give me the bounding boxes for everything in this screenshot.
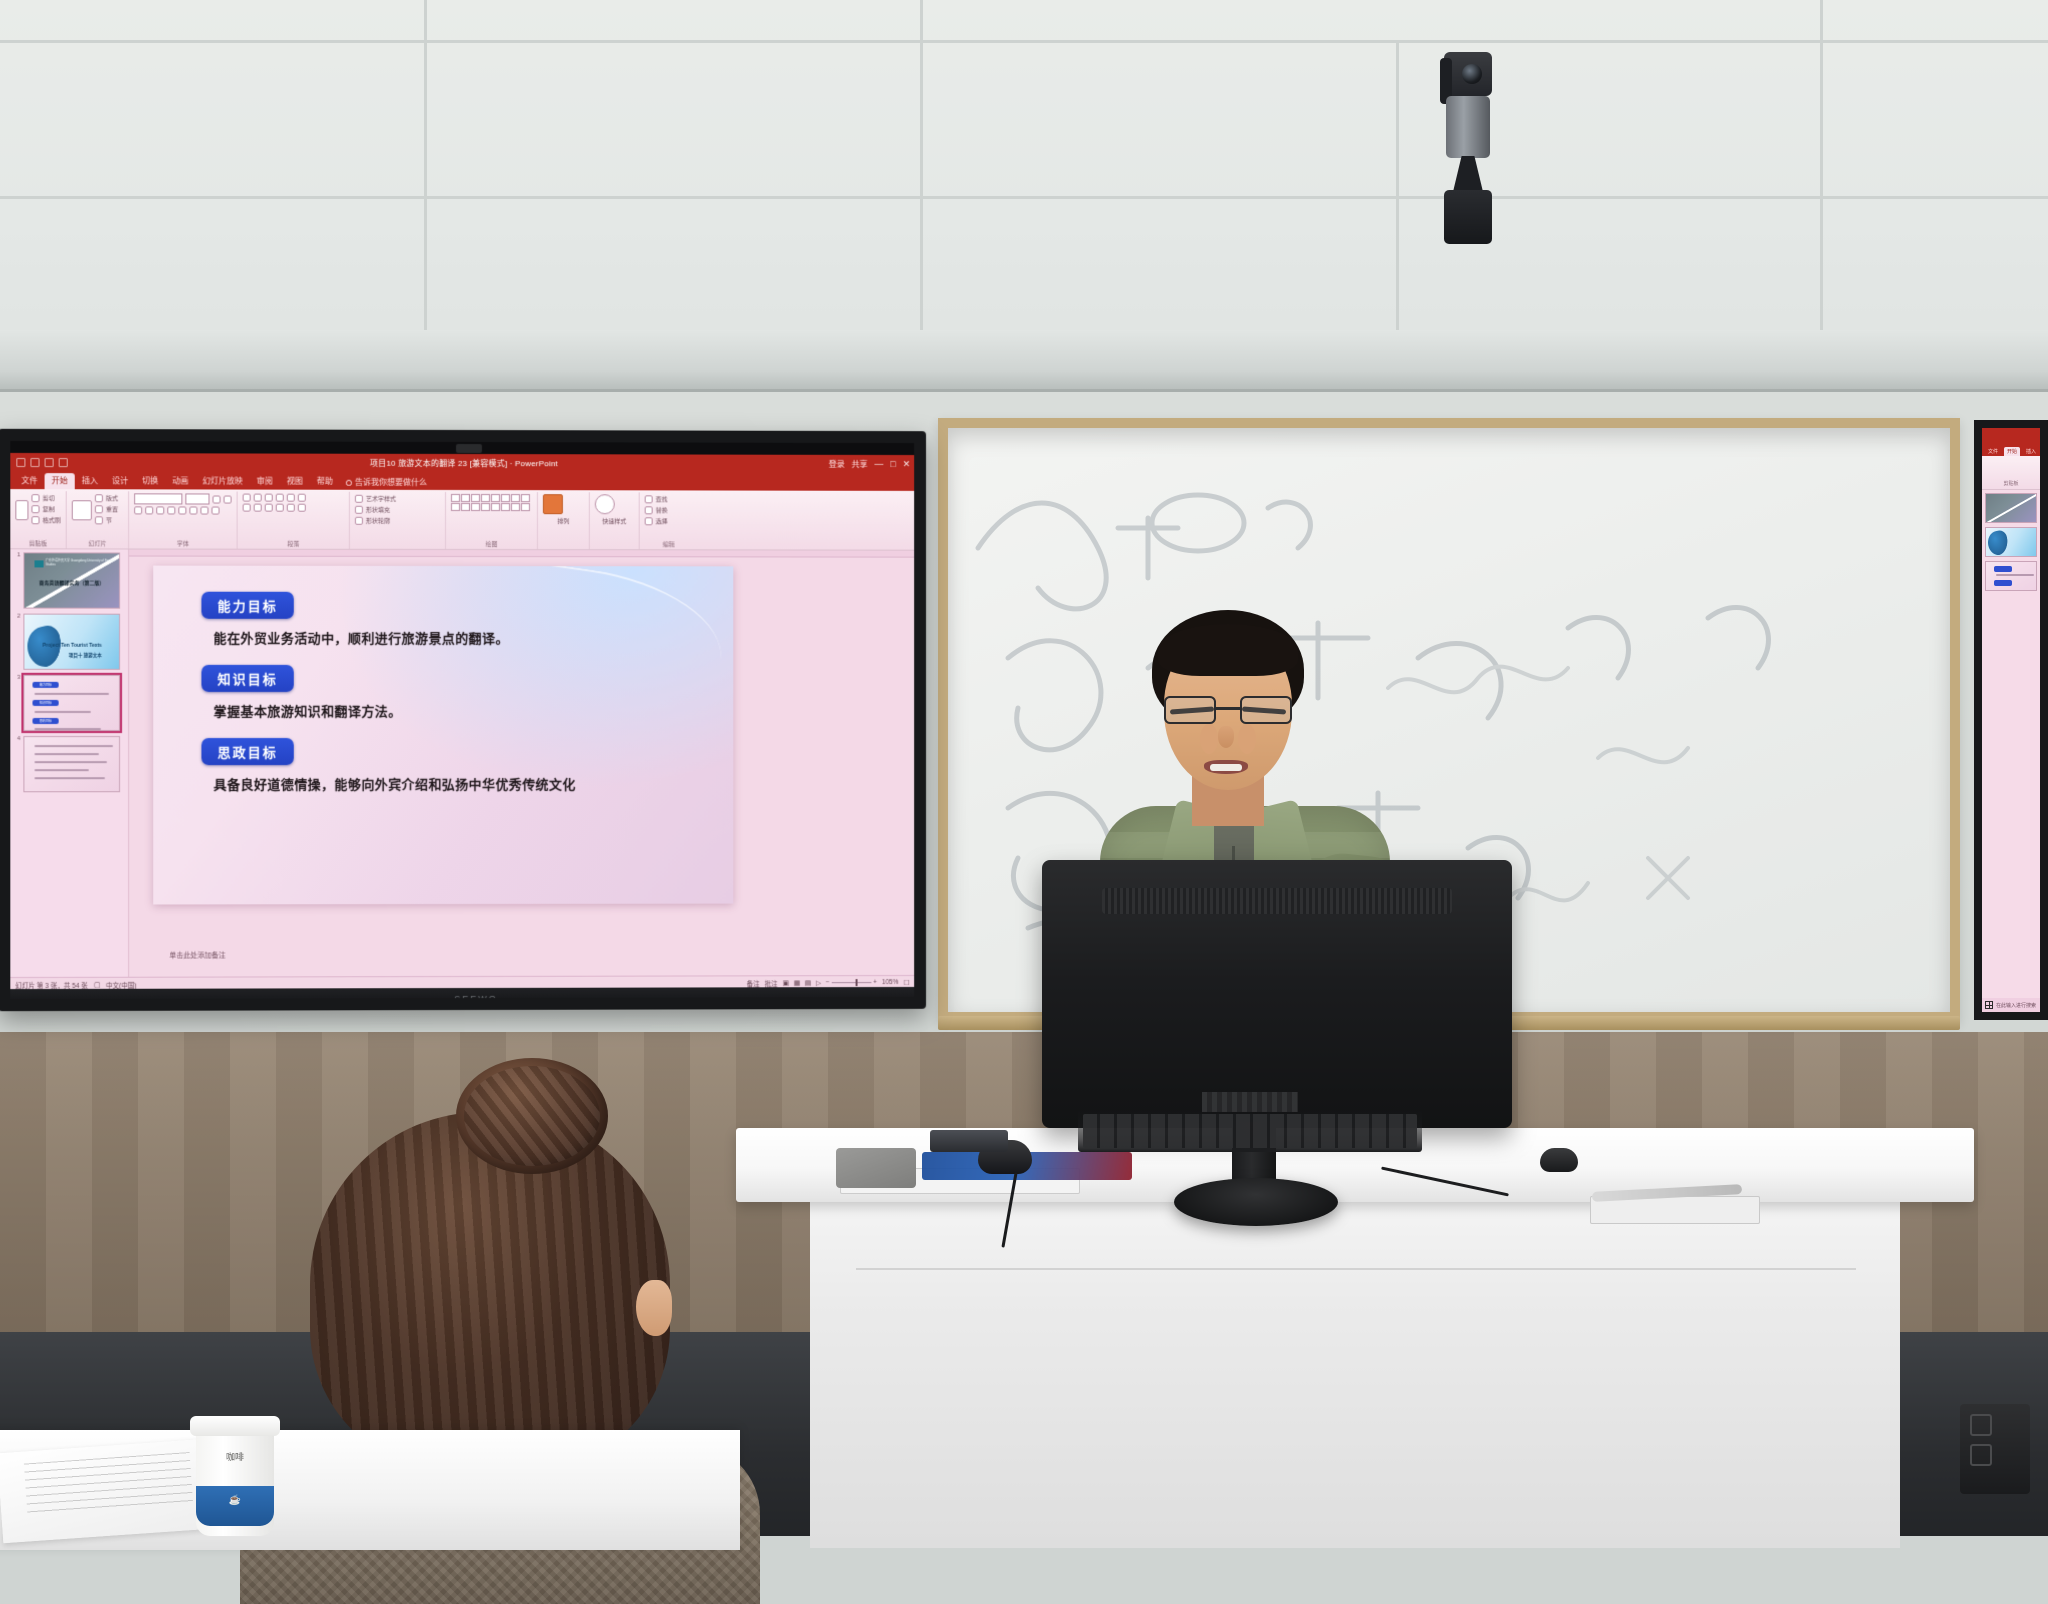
paper-text-lines bbox=[24, 1452, 193, 1515]
zoom-knob[interactable] bbox=[855, 979, 857, 986]
shape-outline-label: 形状轮廓 bbox=[366, 516, 390, 525]
shape-banner-icon[interactable] bbox=[521, 503, 530, 511]
monitor-vent bbox=[1102, 888, 1452, 914]
smartphone[interactable] bbox=[930, 1130, 1008, 1152]
window-title: 项目10 旅游文本的翻译 23 [兼容模式] · PowerPoint bbox=[10, 457, 914, 470]
shape-star-icon[interactable] bbox=[511, 503, 520, 511]
group-label-font: 字体 bbox=[129, 538, 237, 547]
ribbon-group-font[interactable]: 字体 bbox=[129, 491, 238, 548]
thumbnail-2-subtitle: 项目十 旅游文本 bbox=[69, 653, 102, 659]
secondary-taskbar[interactable]: 在此输入进行搜索 bbox=[1982, 998, 2040, 1012]
maximize-button[interactable]: □ bbox=[890, 460, 895, 469]
secondary-tab-home[interactable]: 开始 bbox=[2004, 447, 2020, 456]
display-brand-label: SEEWO bbox=[454, 994, 497, 1004]
interactive-flat-panel-display[interactable]: 项目10 旅游文本的翻译 23 [兼容模式] · PowerPoint 登录 共… bbox=[0, 429, 926, 1011]
shapes-gallery[interactable] bbox=[451, 494, 532, 511]
display-screen[interactable]: 项目10 旅游文本的翻译 23 [兼容模式] · PowerPoint 登录 共… bbox=[10, 453, 914, 1011]
shape-line-icon[interactable] bbox=[471, 494, 480, 502]
secondary-display[interactable]: 文件 开始 插入 剪贴板 bbox=[1974, 420, 2048, 1020]
wordart-styles-icon[interactable] bbox=[355, 494, 363, 502]
powerpoint-title-bar: 项目10 旅游文本的翻译 23 [兼容模式] · PowerPoint 登录 共… bbox=[10, 453, 914, 474]
tab-file[interactable]: 文件 bbox=[14, 473, 44, 489]
group-label-clipboard: 剪贴板 bbox=[10, 538, 65, 547]
thumbnail-item[interactable]: 2 Project Ten Tourist Texts 项目十 旅游文本 bbox=[13, 614, 126, 670]
share-button[interactable]: 共享 bbox=[852, 459, 868, 470]
student-hair-strands bbox=[310, 1112, 670, 1472]
thumbnail-number: 4 bbox=[13, 736, 20, 792]
teacher-hair-fringe bbox=[1158, 624, 1298, 676]
decrease-indent-icon[interactable] bbox=[265, 494, 273, 502]
ability-goal-chip: 能力目标 bbox=[201, 592, 293, 619]
thumbnail-number: 1 bbox=[13, 552, 20, 608]
thumb-line-e bbox=[34, 777, 104, 779]
thumb-chip-3: 思政目标 bbox=[32, 718, 58, 724]
increase-indent-icon[interactable] bbox=[276, 494, 284, 502]
thumb-line-1 bbox=[34, 693, 108, 695]
bold-icon[interactable] bbox=[134, 506, 142, 514]
ribbon-group-wordart[interactable]: 艺术字样式 形状填充 形状轮廓 bbox=[350, 492, 446, 549]
knowledge-goal-text: 掌握基本旅游知识和翻译方法。 bbox=[214, 703, 700, 722]
papers-on-table[interactable] bbox=[0, 1439, 213, 1543]
zoom-track[interactable] bbox=[831, 982, 871, 983]
tab-design[interactable]: 设计 bbox=[105, 473, 135, 489]
group-label-paragraph: 段落 bbox=[238, 539, 349, 548]
justify-icon[interactable] bbox=[276, 504, 284, 512]
view-normal-button[interactable]: ▣ bbox=[783, 979, 789, 987]
camera-lens-icon bbox=[1462, 64, 1482, 84]
slide-thumbnail-panel[interactable]: 1 广东外语外贸大学 Guangdong University of Forei… bbox=[10, 549, 129, 977]
thumbnail-slide-4[interactable] bbox=[23, 736, 120, 792]
secondary-line-1 bbox=[1996, 574, 2034, 576]
secondary-ribbon[interactable]: 剪贴板 bbox=[1982, 456, 2040, 490]
replace-label: 替换 bbox=[656, 505, 668, 514]
shape-fill-icon[interactable] bbox=[355, 505, 363, 513]
group-label-drawing: 绘图 bbox=[446, 539, 537, 548]
thumb-line-a bbox=[34, 745, 113, 747]
thumb-chip-2: 知识目标 bbox=[32, 700, 58, 706]
shape-callout-icon[interactable] bbox=[501, 503, 510, 511]
bullets-icon[interactable] bbox=[243, 494, 251, 502]
reset-icon[interactable] bbox=[95, 505, 103, 513]
arrange-label: 排列 bbox=[543, 516, 584, 525]
select-icon[interactable] bbox=[645, 517, 653, 525]
slide-canvas-area[interactable]: 能力目标 能在外贸业务活动中，顺利进行旅游景点的翻译。 知识目标 掌握基本旅游知… bbox=[129, 550, 914, 977]
shape-triangle-icon[interactable] bbox=[451, 503, 460, 511]
podium-panel-seam bbox=[856, 1268, 1856, 1270]
thumbnail-1-title: 商务英语翻译实务（第二版） bbox=[24, 579, 119, 586]
increase-font-icon[interactable] bbox=[213, 495, 221, 503]
section-icon[interactable] bbox=[95, 516, 103, 524]
secondary-tab-insert[interactable]: 插入 bbox=[2023, 447, 2039, 456]
format-painter-icon[interactable] bbox=[31, 516, 39, 524]
secondary-chip-2 bbox=[1994, 580, 2012, 586]
canvas-ruler bbox=[129, 550, 914, 558]
teacher-teeth bbox=[1210, 764, 1242, 771]
align-center-icon[interactable] bbox=[254, 504, 262, 512]
new-slide-icon[interactable] bbox=[72, 500, 92, 520]
shape-oval-icon[interactable] bbox=[491, 503, 500, 511]
view-sorter-button[interactable]: ▦ bbox=[794, 979, 800, 987]
tab-view[interactable]: 视图 bbox=[280, 474, 310, 490]
slide-content: 能力目标 能在外贸业务活动中，顺利进行旅游景点的翻译。 知识目标 掌握基本旅游知… bbox=[153, 566, 733, 827]
keyboard[interactable] bbox=[1078, 1110, 1422, 1152]
minimize-button[interactable]: — bbox=[874, 460, 883, 469]
align-left-icon[interactable] bbox=[243, 504, 251, 512]
tab-insert[interactable]: 插入 bbox=[75, 473, 105, 489]
ribbon[interactable]: 剪切 复制 格式刷 剪贴板 版式 重置 节 幻灯片 bbox=[10, 489, 914, 551]
panel-seam bbox=[920, 0, 923, 330]
decrease-font-icon[interactable] bbox=[224, 495, 232, 503]
powerpoint-workspace[interactable]: 1 广东外语外贸大学 Guangdong University of Forei… bbox=[10, 549, 914, 977]
ideology-goal-chip: 思政目标 bbox=[201, 738, 293, 765]
tab-review[interactable]: 审阅 bbox=[250, 474, 280, 490]
secondary-tab-file[interactable]: 文件 bbox=[1985, 447, 2001, 456]
zoom-in-button[interactable]: + bbox=[873, 979, 877, 986]
title-diagonal-shape bbox=[1985, 493, 2037, 523]
windows-start-icon[interactable] bbox=[1985, 1001, 1993, 1009]
display-camera-icon bbox=[456, 444, 482, 453]
find-icon[interactable] bbox=[645, 495, 653, 503]
thumb-line-3 bbox=[34, 728, 100, 730]
lightbulb-icon bbox=[346, 479, 352, 485]
character-spacing-icon[interactable] bbox=[189, 506, 197, 514]
section-label: 节 bbox=[106, 515, 112, 524]
secondary-group-label: 剪贴板 bbox=[1982, 456, 2040, 487]
ability-goal-text: 能在外贸业务活动中，顺利进行旅游景点的翻译。 bbox=[214, 630, 700, 649]
camera-wall-mount bbox=[1444, 190, 1492, 244]
panel-seam bbox=[1396, 40, 1399, 330]
ribbon-group-slides[interactable]: 版式 重置 节 幻灯片 bbox=[67, 491, 129, 548]
glasses-lens-left bbox=[1164, 696, 1216, 724]
quick-styles-label: 快速样式 bbox=[595, 516, 634, 525]
monitor-stand-base bbox=[1174, 1178, 1338, 1226]
secondary-title-bar bbox=[1982, 428, 2040, 444]
ceiling-ptz-camera bbox=[1438, 52, 1498, 252]
text-direction-icon[interactable] bbox=[298, 494, 306, 502]
wordart-label: 艺术字样式 bbox=[366, 494, 396, 503]
thumbnail-slide-2[interactable]: Project Ten Tourist Texts 项目十 旅游文本 bbox=[23, 614, 120, 670]
secondary-search-label[interactable]: 在此输入进行搜索 bbox=[1996, 1002, 2036, 1009]
zoom-out-button[interactable]: − bbox=[826, 979, 830, 986]
podium-body bbox=[810, 1196, 1900, 1548]
desk-monitor-rear bbox=[1042, 860, 1512, 1128]
teacher-nose bbox=[1218, 726, 1234, 748]
cleaning-cloth bbox=[836, 1148, 916, 1188]
layout-label: 版式 bbox=[106, 493, 118, 502]
close-button[interactable]: ✕ bbox=[903, 460, 910, 469]
notes-placeholder[interactable]: 单击此处添加备注 bbox=[169, 950, 225, 960]
panel-seam bbox=[424, 0, 427, 330]
convert-smartart-icon[interactable] bbox=[298, 504, 306, 512]
zoom-slider[interactable]: − + bbox=[826, 979, 877, 986]
sign-in-label[interactable]: 登录 bbox=[829, 459, 845, 470]
secondary-thumbnail-3[interactable] bbox=[1985, 561, 2037, 591]
shape-rect-icon[interactable] bbox=[451, 494, 460, 502]
glasses-lens-right bbox=[1240, 696, 1292, 724]
monitor-label bbox=[1202, 1092, 1298, 1112]
display-brand-chin: SEEWO bbox=[10, 987, 926, 1011]
shape-freeform-icon[interactable] bbox=[471, 503, 480, 511]
secondary-thumbnail-2[interactable] bbox=[1985, 527, 2037, 557]
shape-more-icon[interactable] bbox=[521, 494, 530, 502]
tab-transitions[interactable]: 切换 bbox=[135, 473, 165, 489]
arrange-icon[interactable] bbox=[543, 494, 563, 514]
ribbon-group-clipboard[interactable]: 剪切 复制 格式刷 剪贴板 bbox=[10, 491, 66, 548]
shape-circle-icon[interactable] bbox=[481, 503, 490, 511]
ribbon-tab-strip[interactable]: 文件 开始 插入 设计 切换 动画 幻灯片放映 审阅 视图 帮助 告诉我你想要做… bbox=[10, 472, 914, 491]
wall-soffit bbox=[0, 330, 2048, 392]
fit-slide-button[interactable]: ☐ bbox=[903, 978, 909, 986]
ribbon-group-quickstyles[interactable]: 快速样式 bbox=[590, 492, 640, 549]
tell-me-search[interactable]: 告诉我你想要做什么 bbox=[340, 475, 433, 490]
ribbon-group-paragraph[interactable]: 段落 bbox=[238, 492, 350, 549]
accessibility-icon[interactable]: ▢ bbox=[94, 980, 100, 988]
panel-seam bbox=[0, 196, 2048, 199]
columns-icon[interactable] bbox=[287, 504, 295, 512]
find-label: 查找 bbox=[656, 494, 668, 503]
cup-sleeve: ☕ bbox=[196, 1486, 274, 1526]
teacher-mouth bbox=[1204, 760, 1248, 774]
window-controls[interactable]: 登录 共享 — □ ✕ bbox=[829, 455, 910, 474]
font-family-select[interactable] bbox=[134, 493, 182, 504]
panel-seam bbox=[1820, 0, 1823, 330]
classroom-scene: 项目10 旅游文本的翻译 23 [兼容模式] · PowerPoint 登录 共… bbox=[0, 0, 2048, 1536]
student-ear bbox=[636, 1280, 672, 1336]
student-hair-bun bbox=[456, 1058, 608, 1174]
thumb-line-b bbox=[34, 753, 98, 755]
format-painter-label: 格式刷 bbox=[43, 515, 61, 524]
copy-icon[interactable] bbox=[31, 505, 39, 513]
secondary-chip-1 bbox=[1994, 566, 2012, 572]
secondary-display-screen[interactable]: 文件 开始 插入 剪贴板 bbox=[1982, 428, 2040, 1012]
socket-icon[interactable] bbox=[1970, 1444, 1992, 1466]
coffee-cup[interactable]: 咖啡 ☕ bbox=[196, 1424, 274, 1536]
secondary-mouse[interactable] bbox=[1540, 1148, 1578, 1172]
university-name: 广东外语外贸大学 Guangdong University of Foreign… bbox=[46, 559, 119, 567]
university-logo-icon bbox=[34, 560, 43, 567]
panel-seam bbox=[0, 40, 2048, 43]
cup-lid bbox=[190, 1416, 280, 1436]
active-slide[interactable]: 能力目标 能在外贸业务活动中，顺利进行旅游景点的翻译。 知识目标 掌握基本旅游知… bbox=[153, 566, 733, 905]
quick-styles-icon[interactable] bbox=[595, 494, 615, 514]
shape-square-icon[interactable] bbox=[491, 494, 500, 502]
font-size-select[interactable] bbox=[185, 493, 209, 504]
student-hair bbox=[310, 1112, 670, 1472]
secondary-thumbnail-1[interactable] bbox=[1985, 493, 2037, 523]
socket-icon[interactable] bbox=[1970, 1414, 1992, 1436]
thumb-line-2 bbox=[34, 711, 90, 713]
thumbnail-item[interactable]: 1 广东外语外贸大学 Guangdong University of Forei… bbox=[13, 552, 126, 608]
thumb-chip-1: 能力目标 bbox=[32, 682, 58, 688]
thumbnail-slide-1[interactable]: 广东外语外贸大学 Guangdong University of Foreign… bbox=[23, 552, 120, 608]
secondary-thumbnail-panel[interactable] bbox=[1982, 490, 2040, 594]
dolphin-illustration-icon bbox=[1986, 529, 2011, 557]
ribbon-group-shapes-gallery[interactable]: 绘图 bbox=[446, 492, 538, 549]
thumbnail-number: 2 bbox=[13, 614, 20, 670]
tab-slideshow[interactable]: 幻灯片放映 bbox=[195, 473, 249, 489]
thumbnail-item[interactable]: 3 能力目标 知识目标 思政目标 bbox=[13, 675, 126, 731]
cup-sleeve-icon: ☕ bbox=[196, 1495, 274, 1506]
secondary-tab-strip[interactable]: 文件 开始 插入 bbox=[1982, 444, 2040, 456]
power-strip[interactable] bbox=[1960, 1404, 2030, 1494]
tell-me-label: 告诉我你想要做什么 bbox=[355, 477, 427, 488]
knowledge-goal-chip: 知识目标 bbox=[201, 665, 293, 692]
paste-icon[interactable] bbox=[15, 500, 28, 520]
teacher-ear-left bbox=[1238, 724, 1256, 754]
select-label: 选择 bbox=[656, 516, 668, 525]
glasses-bridge bbox=[1216, 707, 1240, 710]
group-label-editing: 编辑 bbox=[640, 539, 698, 548]
shape-outline-icon[interactable] bbox=[355, 516, 363, 524]
change-case-icon[interactable] bbox=[200, 507, 208, 515]
line-spacing-icon[interactable] bbox=[287, 494, 295, 502]
thumbnail-number: 3 bbox=[13, 675, 20, 731]
teacher-ear-right bbox=[1200, 724, 1218, 754]
powerpoint-window[interactable]: 项目10 旅游文本的翻译 23 [兼容模式] · PowerPoint 登录 共… bbox=[10, 453, 914, 1011]
ideology-goal-text: 具备良好道德情操，能够向外宾介绍和弘扬中华优秀传统文化 bbox=[214, 776, 634, 795]
teacher-eyeglasses bbox=[1162, 696, 1294, 726]
thumbnail-2-title: Project Ten Tourist Texts bbox=[43, 643, 102, 649]
italic-icon[interactable] bbox=[145, 506, 153, 514]
view-reading-button[interactable]: ▤ bbox=[805, 979, 811, 987]
thumbnail-item[interactable]: 4 bbox=[13, 736, 126, 792]
cup-label: 咖啡 bbox=[196, 1450, 274, 1463]
camera-body bbox=[1446, 96, 1490, 158]
tab-animations[interactable]: 动画 bbox=[165, 473, 195, 489]
group-label-slides: 幻灯片 bbox=[67, 538, 128, 547]
cut-icon[interactable] bbox=[31, 494, 39, 502]
replace-icon[interactable] bbox=[645, 506, 653, 514]
cut-label: 剪切 bbox=[43, 493, 55, 502]
strikethrough-icon[interactable] bbox=[178, 506, 186, 514]
font-color-icon[interactable] bbox=[212, 507, 220, 515]
align-right-icon[interactable] bbox=[265, 504, 273, 512]
thumb-line-d bbox=[34, 769, 88, 771]
ribbon-group-arrange[interactable]: 排列 bbox=[538, 492, 590, 549]
tab-help[interactable]: 帮助 bbox=[310, 474, 340, 490]
underline-icon[interactable] bbox=[156, 506, 164, 514]
zoom-level-label[interactable]: 105% bbox=[882, 979, 898, 986]
thumbnail-slide-3[interactable]: 能力目标 知识目标 思政目标 bbox=[23, 675, 120, 731]
ribbon-group-editing[interactable]: 查找 替换 选择 编辑 bbox=[640, 492, 698, 549]
shape-fill-label: 形状填充 bbox=[366, 505, 390, 514]
shape-curve-icon[interactable] bbox=[461, 503, 470, 511]
shape-arrow-icon[interactable] bbox=[481, 494, 490, 502]
reset-label: 重置 bbox=[106, 504, 118, 513]
shape-box-icon[interactable] bbox=[501, 494, 510, 502]
shape-rounded-rect-icon[interactable] bbox=[461, 494, 470, 502]
clock-date: 2026/3/25 bbox=[872, 999, 899, 1006]
shape-cube-icon[interactable] bbox=[511, 494, 520, 502]
keyboard-keys[interactable] bbox=[1083, 1114, 1417, 1148]
thumb-line-c bbox=[34, 761, 106, 763]
tab-home[interactable]: 开始 bbox=[45, 473, 75, 489]
view-slideshow-button[interactable]: ▷ bbox=[816, 979, 821, 987]
copy-label: 复制 bbox=[43, 504, 55, 513]
shadow-icon[interactable] bbox=[167, 506, 175, 514]
numbering-icon[interactable] bbox=[254, 494, 262, 502]
layout-icon[interactable] bbox=[95, 494, 103, 502]
